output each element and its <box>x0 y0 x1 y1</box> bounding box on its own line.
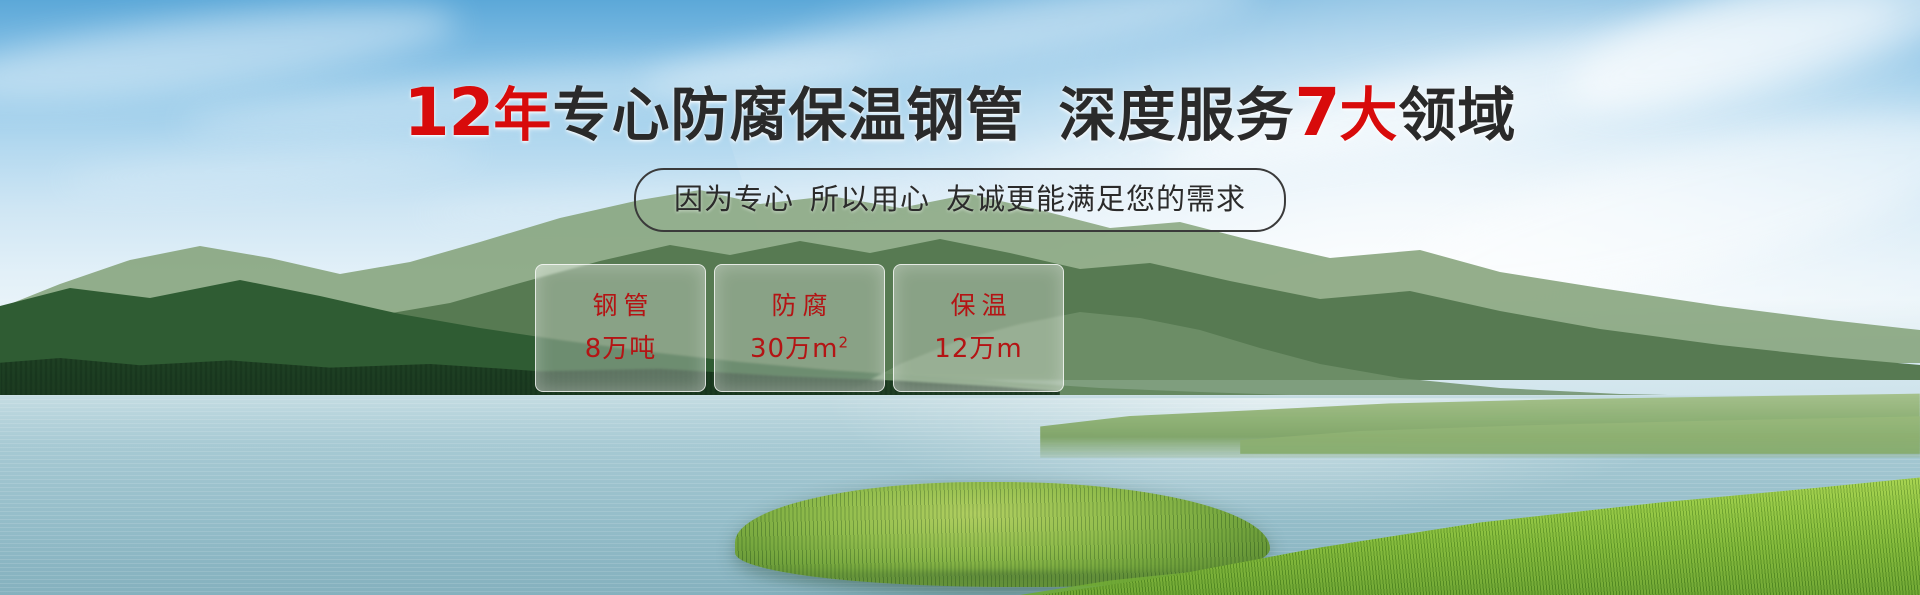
stat-card-value-main: 12万m <box>934 334 1022 364</box>
stat-card-title: 保温 <box>944 292 1012 320</box>
stat-card-value-main: 30万m <box>750 334 838 364</box>
headline-service-text: 深度服务 <box>1058 81 1294 149</box>
promo-banner: 12年专心防腐保温钢管深度服务7大领域 因为专心所以用心友诚更能满足您的需求 钢… <box>0 0 1920 595</box>
stat-card-title: 钢管 <box>586 292 654 320</box>
subtitle-part-1: 因为专心 <box>674 182 794 216</box>
headline-fields-text: 领域 <box>1398 81 1516 149</box>
stat-card-anticorrosion[interactable]: 防腐 30万m2 <box>714 264 885 392</box>
stat-card-value: 12万m <box>934 334 1022 364</box>
stat-card-title: 防腐 <box>765 292 833 320</box>
headline-number-years: 12 <box>404 74 494 151</box>
stat-card-insulation[interactable]: 保温 12万m <box>893 264 1064 392</box>
headline: 12年专心防腐保温钢管深度服务7大领域 <box>0 82 1920 146</box>
stat-card-value-superscript: 2 <box>838 333 849 351</box>
subtitle-part-2: 所以用心 <box>810 182 930 216</box>
subtitle-part-3: 友诚更能满足您的需求 <box>946 182 1246 216</box>
stat-card-value: 30万m2 <box>750 334 849 364</box>
headline-unit-years: 年 <box>493 81 552 149</box>
headline-unit-fields: 大 <box>1339 81 1398 149</box>
subtitle-pill: 因为专心所以用心友诚更能满足您的需求 <box>634 168 1286 232</box>
stat-card-value: 8万吨 <box>585 334 657 364</box>
headline-number-fields: 7 <box>1294 74 1339 151</box>
stat-card-value-main: 8万吨 <box>585 334 657 364</box>
stat-cards: 钢管 8万吨 防腐 30万m2 保温 12万m <box>535 264 1064 392</box>
headline-main-text: 专心防腐保温钢管 <box>552 81 1024 149</box>
stat-card-steel-pipe[interactable]: 钢管 8万吨 <box>535 264 706 392</box>
